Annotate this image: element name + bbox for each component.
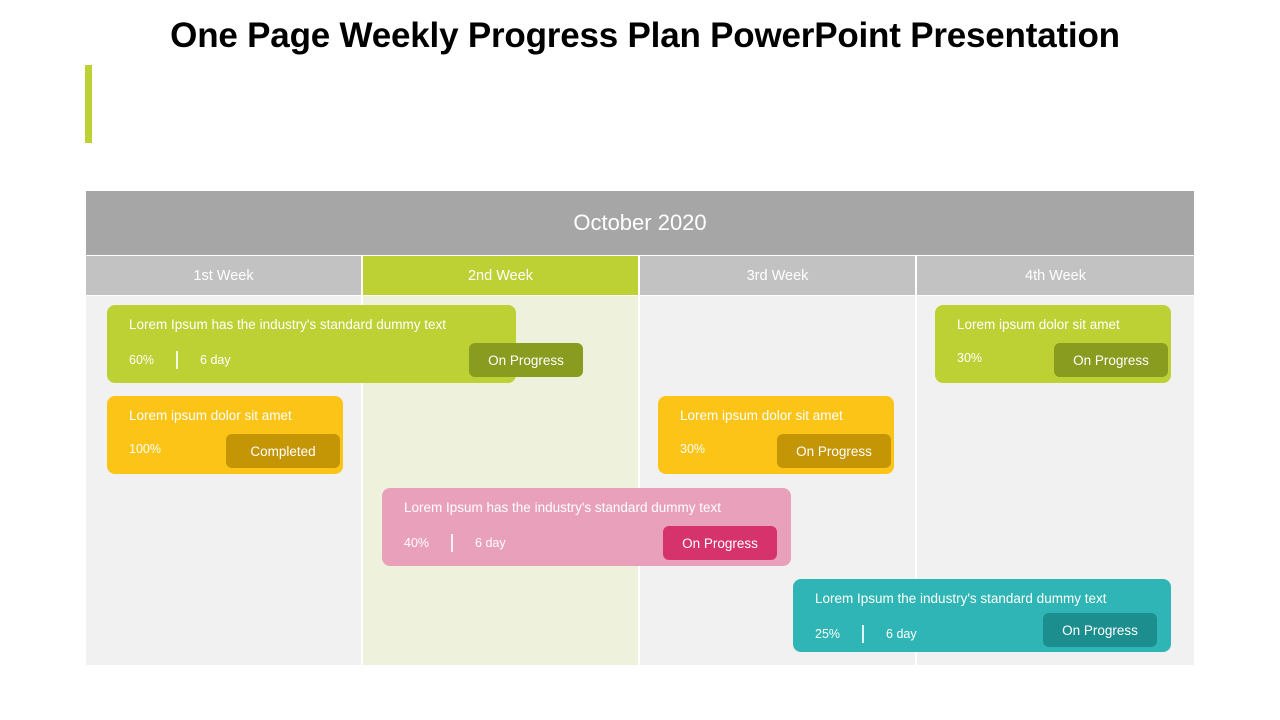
task-meta-3: 30% (957, 351, 982, 365)
task-meta-separator-1 (176, 351, 178, 369)
title-accent-bar (85, 65, 92, 143)
task-title-1: Lorem Ipsum has the industry's standard … (129, 317, 446, 332)
weekly-progress-table: October 2020 1st Week 2nd Week 3rd Week … (86, 191, 1194, 665)
task-status-6[interactable]: On Progress (1043, 613, 1157, 647)
task-duration-1: 6 day (200, 353, 231, 367)
task-status-3[interactable]: On Progress (1054, 343, 1168, 377)
task-meta-6: 25% 6 day (815, 625, 917, 643)
task-percent-1: 60% (129, 353, 154, 367)
week-header-row: 1st Week 2nd Week 3rd Week 4th Week (86, 256, 1194, 295)
task-status-5[interactable]: On Progress (663, 526, 777, 560)
week-header-label-4: 4th Week (1025, 268, 1086, 284)
task-card-4[interactable]: Lorem ipsum dolor sit amet 30% On Progre… (658, 396, 894, 474)
week-header-label-3: 3rd Week (747, 268, 809, 284)
task-title-4: Lorem ipsum dolor sit amet (680, 408, 843, 423)
task-meta-5: 40% 6 day (404, 534, 506, 552)
task-title-2: Lorem ipsum dolor sit amet (129, 408, 292, 423)
task-duration-5: 6 day (475, 536, 506, 550)
task-percent-3: 30% (957, 351, 982, 365)
task-duration-6: 6 day (886, 627, 917, 641)
task-status-1[interactable]: On Progress (469, 343, 583, 377)
task-meta-2: 100% (129, 442, 161, 456)
month-label: October 2020 (573, 210, 706, 236)
task-card-2[interactable]: Lorem ipsum dolor sit amet 100% Complete… (107, 396, 343, 474)
week-header-label-1: 1st Week (193, 268, 253, 284)
month-header: October 2020 (86, 191, 1194, 255)
task-meta-separator-6 (862, 625, 864, 643)
page-title: One Page Weekly Progress Plan PowerPoint… (150, 10, 1140, 61)
slide-root: One Page Weekly Progress Plan PowerPoint… (0, 0, 1280, 720)
task-title-3: Lorem ipsum dolor sit amet (957, 317, 1120, 332)
task-percent-4: 30% (680, 442, 705, 456)
task-percent-5: 40% (404, 536, 429, 550)
task-status-2[interactable]: Completed (226, 434, 340, 468)
task-meta-separator-5 (451, 534, 453, 552)
task-card-5[interactable]: Lorem Ipsum has the industry's standard … (382, 488, 791, 566)
task-percent-6: 25% (815, 627, 840, 641)
week-header-label-2: 2nd Week (468, 268, 533, 284)
task-status-4[interactable]: On Progress (777, 434, 891, 468)
task-meta-1: 60% 6 day (129, 351, 231, 369)
task-title-5: Lorem Ipsum has the industry's standard … (404, 500, 721, 515)
week-header-2[interactable]: 2nd Week (363, 256, 640, 295)
task-percent-2: 100% (129, 442, 161, 456)
task-title-6: Lorem Ipsum the industry's standard dumm… (815, 591, 1106, 606)
task-card-6[interactable]: Lorem Ipsum the industry's standard dumm… (793, 579, 1171, 652)
task-card-3[interactable]: Lorem ipsum dolor sit amet 30% On Progre… (935, 305, 1171, 383)
task-meta-4: 30% (680, 442, 705, 456)
week-header-3[interactable]: 3rd Week (640, 256, 917, 295)
task-card-1[interactable]: Lorem Ipsum has the industry's standard … (107, 305, 516, 383)
week-header-4[interactable]: 4th Week (917, 256, 1194, 295)
week-header-1[interactable]: 1st Week (86, 256, 363, 295)
